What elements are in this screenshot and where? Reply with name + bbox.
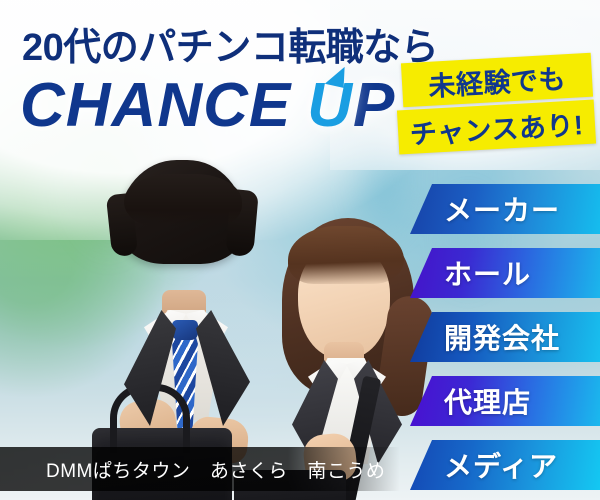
logo-letter-u-wrap: U [307, 70, 353, 141]
logo-letter-p: P [353, 71, 395, 140]
category-label: ホール [444, 253, 531, 293]
category-label: メーカー [444, 189, 560, 229]
male-tie-knot [172, 320, 198, 340]
male-fringe [124, 174, 242, 226]
category-button-hall[interactable]: ホール [410, 248, 600, 298]
photo-credit-caption: DMMぱちタウン あさくら 南こうめ [0, 447, 400, 491]
logo-word-chance: CHANCE [20, 71, 291, 140]
category-label: 代理店 [444, 381, 531, 421]
banner-headline: 20代のパチンコ転職なら [22, 16, 438, 71]
female-fringe [288, 226, 404, 284]
category-button-media[interactable]: メディア [410, 440, 600, 490]
category-button-developer[interactable]: 開発会社 [410, 312, 600, 362]
category-button-agency[interactable]: 代理店 [410, 376, 600, 426]
category-label: 開発会社 [444, 317, 560, 357]
category-button-maker[interactable]: メーカー [410, 184, 600, 234]
pachinko-job-banner[interactable]: 20代のパチンコ転職なら CHANCEUP 未経験でも チャンスあり! メーカー… [0, 0, 600, 500]
category-label: メディア [444, 445, 558, 485]
chance-up-logo: CHANCEUP [20, 70, 395, 141]
